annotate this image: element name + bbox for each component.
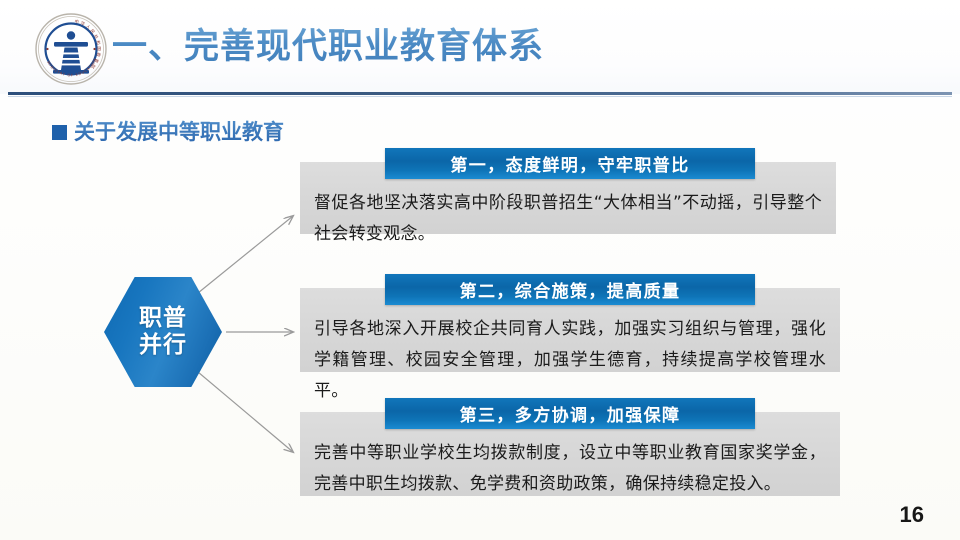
- square-bullet-icon: [52, 125, 67, 140]
- slide-header: 中华人民共和国教育部 MINISTRY OF EDUCATION 一、完善现代职…: [0, 0, 960, 94]
- hexagon-label-line-1: 职普: [139, 305, 187, 332]
- slide-root: 中华人民共和国教育部 MINISTRY OF EDUCATION 一、完善现代职…: [0, 0, 960, 540]
- hexagon-label: 职普 并行: [104, 277, 222, 387]
- section-subtitle-label: 关于发展中等职业教育: [74, 119, 284, 145]
- card-3-title-bar: 第三，多方协调，加强保障: [385, 398, 755, 429]
- header-divider-secondary: [8, 96, 952, 97]
- section-subtitle: 关于发展中等职业教育: [52, 119, 284, 145]
- hexagon-node: 职普 并行: [104, 277, 222, 387]
- card-1-title-bar: 第一，态度鲜明，守牢职普比: [385, 148, 755, 179]
- page-number: 16: [900, 502, 924, 528]
- hexagon-label-line-2: 并行: [139, 332, 187, 359]
- ministry-of-education-emblem-icon: 中华人民共和国教育部 MINISTRY OF EDUCATION: [34, 12, 108, 86]
- header-divider: [8, 92, 952, 95]
- card-2-title-bar: 第二，综合施策，提高质量: [385, 274, 755, 305]
- page-title: 一、完善现代职业教育体系: [112, 20, 544, 74]
